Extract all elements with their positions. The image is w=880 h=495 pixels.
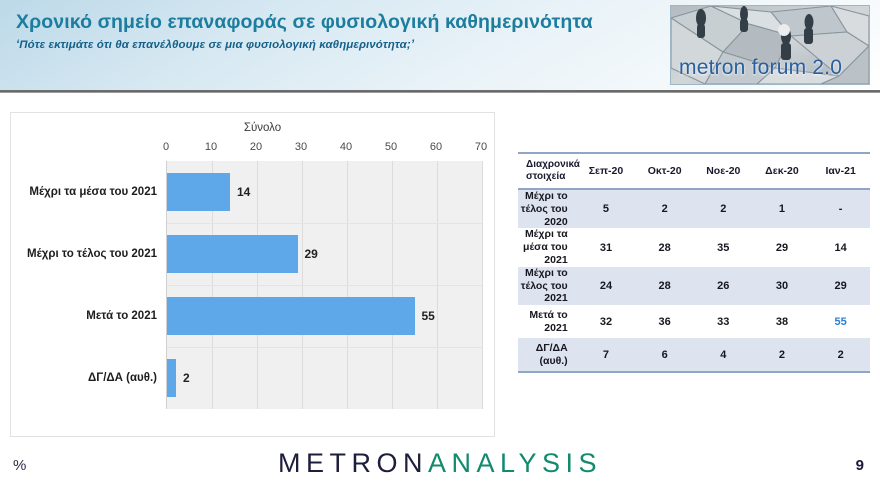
forum-logo-text: metron forum 2.0 [679,56,842,80]
chart-bar-row: Μέχρι το τέλος του 202129 [167,223,482,285]
table-cell: 5 [577,189,636,228]
table-cell: 29 [811,267,870,305]
table-cell: 14 [811,228,870,266]
table-cell: 55 [811,305,870,338]
chart-bar[interactable] [167,173,230,211]
table-cell: 24 [577,267,636,305]
chart-bar-value-label: 29 [298,235,318,273]
table-cell: 6 [635,338,694,372]
table-cell: 28 [635,228,694,266]
table-row: Μέχρι το τέλος του 20212428263029 [518,267,870,305]
table-row: Μετά το 20213236333855 [518,305,870,338]
table-row-label: Μέχρι το τέλος του 2021 [518,267,577,305]
chart-bar-row: Μετά το 202155 [167,285,482,347]
table-cell: 31 [577,228,636,266]
table-cell: 2 [811,338,870,372]
chart-bar-value-label: 55 [415,297,435,335]
page-subtitle: ‘Πότε εκτιμάτε ότι θα επανέλθουμε σε μια… [16,39,656,51]
page-title: Χρονικό σημείο επαναφοράς σε φυσιολογική… [16,10,656,36]
chart-plot-area: Μέχρι τα μέσα του 202114Μέχρι το τέλος τ… [166,161,482,409]
table-row-label: Μετά το 2021 [518,305,577,338]
table-cell: 2 [635,189,694,228]
timeseries-table-wrapper: Διαχρονικά στοιχεία Σεπ-20Οκτ-20Νοε-20Δε… [518,152,870,373]
table-cell: 38 [753,305,812,338]
table-row: ΔΓ/ΔΑ (αυθ.)76422 [518,338,870,372]
table-cell: 26 [694,267,753,305]
x-axis-tick-label: 10 [205,141,217,153]
chart-bar-row: ΔΓ/ΔΑ (αυθ.)2 [167,347,482,409]
table-cell: 28 [635,267,694,305]
bar-chart-panel: Σύνολο 010203040506070 Μέχρι τα μέσα του… [10,112,495,437]
table-body: Μέχρι το τέλος του 20205221-Μέχρι τα μέσ… [518,189,870,372]
chart-x-axis: 010203040506070 [166,141,481,157]
x-axis-tick-label: 0 [163,141,169,153]
table-cell: 32 [577,305,636,338]
x-axis-tick-label: 30 [295,141,307,153]
header-divider [0,90,880,93]
metron-forum-logo: metron forum 2.0 [670,5,870,85]
table-cell: 35 [694,228,753,266]
chart-category-label: ΔΓ/ΔΑ (αυθ.) [88,359,167,397]
table-cell: 29 [753,228,812,266]
chart-bar[interactable] [167,359,176,397]
table-row-label: Μέχρι τα μέσα του 2021 [518,228,577,266]
table-row-label: Μέχρι το τέλος του 2020 [518,189,577,228]
table-cell: 33 [694,305,753,338]
chart-title: Σύνολο [11,122,496,134]
chart-category-label: Μετά το 2021 [86,297,167,335]
chart-bar[interactable] [167,297,415,335]
table-header-row: Διαχρονικά στοιχεία Σεπ-20Οκτ-20Νοε-20Δε… [518,153,870,189]
table-cell: - [811,189,870,228]
chart-bar-value-label: 2 [176,359,190,397]
page-number: 9 [856,457,864,474]
table-row-label: ΔΓ/ΔΑ (αυθ.) [518,338,577,372]
slide-header: Χρονικό σημείο επαναφοράς σε φυσιολογική… [0,0,880,92]
x-axis-tick-label: 60 [430,141,442,153]
table-cell: 1 [753,189,812,228]
brand-analysis: ANALYSIS [428,448,602,478]
x-axis-tick-label: 20 [250,141,262,153]
x-axis-tick-label: 40 [340,141,352,153]
timeseries-table: Διαχρονικά στοιχεία Σεπ-20Οκτ-20Νοε-20Δε… [518,152,870,373]
x-axis-tick-label: 50 [385,141,397,153]
table-cell: 36 [635,305,694,338]
table-cell: 2 [694,189,753,228]
header-text-block: Χρονικό σημείο επαναφοράς σε φυσιολογική… [16,10,656,51]
metron-analysis-brand: METRONANALYSIS [0,448,880,479]
table-col-header: Σεπ-20 [577,153,636,189]
chart-bar[interactable] [167,235,298,273]
table-col-header: Δεκ-20 [753,153,812,189]
table-cell: 30 [753,267,812,305]
table-corner-header: Διαχρονικά στοιχεία [518,153,577,189]
brand-metron: METRON [278,448,428,478]
x-axis-tick-label: 70 [475,141,487,153]
table-cell: 7 [577,338,636,372]
chart-gridline-vertical [482,161,483,409]
table-col-header: Οκτ-20 [635,153,694,189]
chart-bar-value-label: 14 [230,173,250,211]
table-cell: 2 [753,338,812,372]
chart-bar-row: Μέχρι τα μέσα του 202114 [167,161,482,223]
table-col-header: Ιαν-21 [811,153,870,189]
table-col-header: Νοε-20 [694,153,753,189]
table-row: Μέχρι το τέλος του 20205221- [518,189,870,228]
table-row: Μέχρι τα μέσα του 20213128352914 [518,228,870,266]
table-cell: 4 [694,338,753,372]
chart-category-label: Μέχρι τα μέσα του 2021 [29,173,167,211]
chart-category-label: Μέχρι το τέλος του 2021 [27,235,167,273]
table-header: Διαχρονικά στοιχεία Σεπ-20Οκτ-20Νοε-20Δε… [518,153,870,189]
